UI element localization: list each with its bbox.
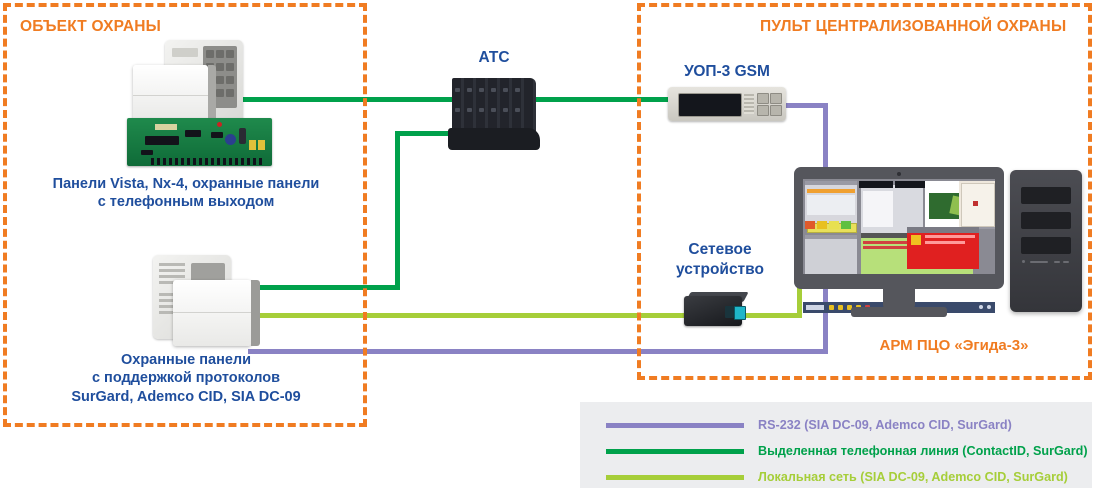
zone-protected-object-title: ОБЪЕКТ ОХРАНЫ	[20, 18, 161, 36]
network-media-converter	[684, 292, 750, 330]
panel-enclosure-bottom	[173, 280, 251, 346]
label-network-device: Сетевое устройство	[650, 240, 790, 279]
pbx-device	[448, 78, 540, 150]
label-panels-bottom: Охранные панели с поддержкой протоколов …	[10, 351, 362, 406]
alarm-panel-pcb	[127, 118, 272, 166]
legend-panel: RS-232 (SIA DC-09, Ademco CID, SurGard) …	[580, 402, 1092, 488]
monitor-stand-neck	[883, 289, 915, 309]
uop3-gsm-receiver	[668, 87, 786, 121]
label-atc: АТС	[448, 48, 540, 68]
label-panels-top: Панели Vista, Nx-4, охранные панели с те…	[18, 175, 354, 212]
line-phone-panel2-vert	[395, 131, 400, 290]
diagram-canvas: ОБЪЕКТ ОХРАНЫ ПУЛЬТ ЦЕНТРАЛИЗОВАННОЙ ОХР…	[0, 0, 1100, 495]
legend-swatch-phone	[606, 449, 744, 454]
uop-led-bar	[744, 94, 754, 114]
label-workstation: АРМ ПЦО «Эгида-3»	[834, 337, 1074, 356]
legend-row-rs232: RS-232 (SIA DC-09, Ademco CID, SurGard)	[606, 414, 1012, 436]
zone-monitoring-station-title: ПУЛЬТ ЦЕНТРАЛИЗОВАННОЙ ОХРАНЫ	[760, 18, 1066, 36]
legend-label-lan: Локальная сеть (SIA DC-09, Ademco CID, S…	[758, 470, 1068, 484]
keypad-display	[172, 48, 198, 57]
legend-swatch-lan	[606, 475, 744, 480]
legend-label-rs232: RS-232 (SIA DC-09, Ademco CID, SurGard)	[758, 418, 1012, 432]
legend-row-phone: Выделенная телефонная линия (ContactID, …	[606, 440, 1088, 462]
legend-row-lan: Локальная сеть (SIA DC-09, Ademco CID, S…	[606, 466, 1068, 488]
monitor-screen	[803, 179, 995, 274]
operator-monitor	[794, 167, 1004, 317]
legend-label-phone: Выделенная телефонная линия (ContactID, …	[758, 444, 1088, 458]
monitor-stand-base	[851, 307, 947, 317]
uop-lcd-display	[678, 93, 742, 117]
workstation-tower	[1010, 170, 1082, 312]
webcam-icon	[897, 172, 901, 176]
uop-buttons	[757, 93, 781, 115]
label-uop3-gsm: УОП-3 GSM	[662, 62, 792, 82]
legend-swatch-rs232	[606, 423, 744, 428]
